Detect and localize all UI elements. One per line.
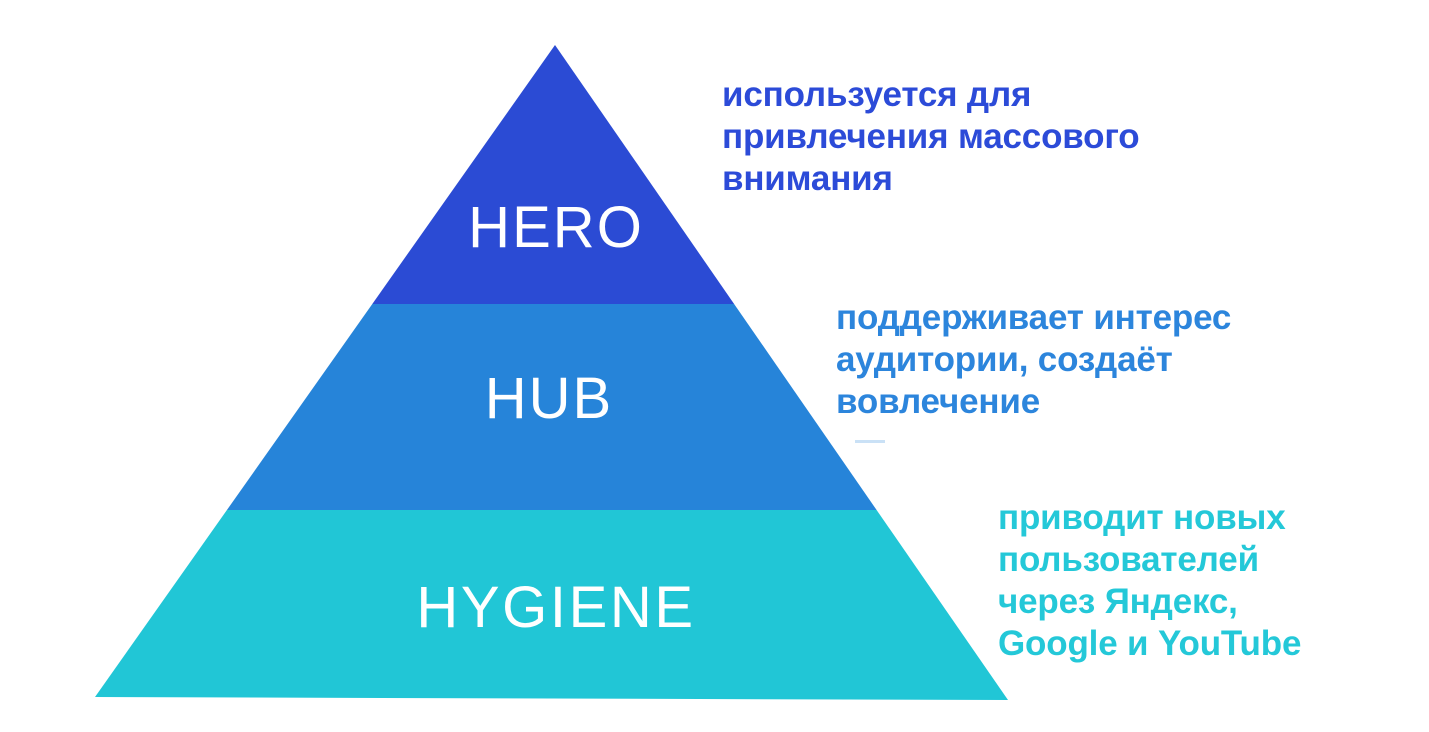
annotation-hygiene: приводит новых пользователей через Яндек… (998, 497, 1398, 665)
stroke-artifact (855, 440, 885, 443)
tier-label-hub: HUB (485, 370, 614, 428)
tier-label-hero: HERO (468, 199, 644, 257)
slide-canvas: HERO HUB HYGIENE используется для привле… (0, 0, 1429, 732)
annotation-hub: поддерживает интерес аудитории, создаёт … (836, 297, 1351, 423)
tier-label-hygiene: HYGIENE (416, 579, 695, 637)
annotation-hero: используется для привлечения массового в… (722, 74, 1252, 200)
